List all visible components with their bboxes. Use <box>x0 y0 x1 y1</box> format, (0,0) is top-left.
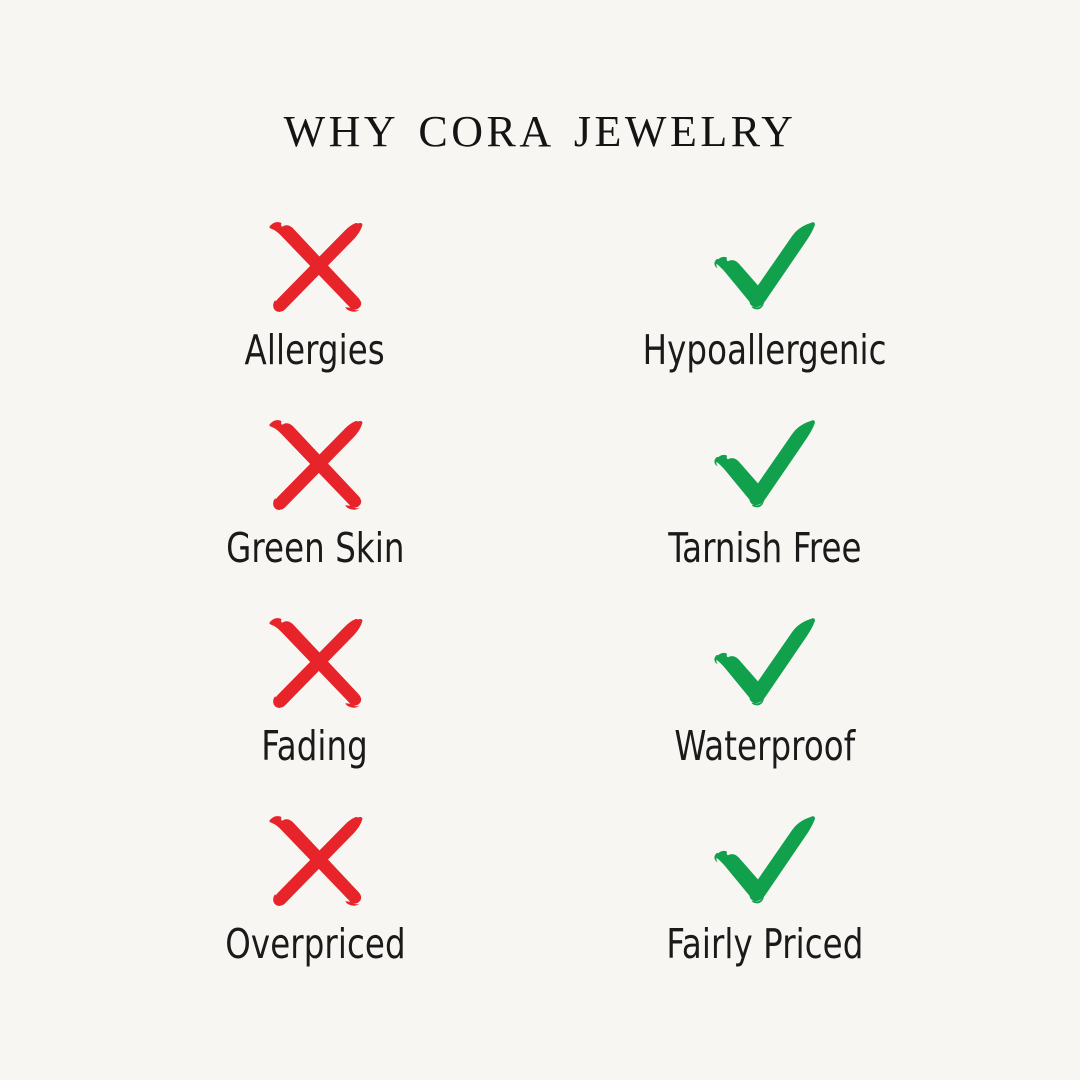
check-icon <box>709 610 821 714</box>
check-icon <box>709 412 821 516</box>
cross-icon <box>259 412 371 516</box>
comparison-cell-positive: Fairly Priced <box>540 808 990 1006</box>
comparison-cell-positive: Waterproof <box>540 610 990 808</box>
comparison-cell-negative: Allergies <box>90 214 540 412</box>
comparison-cell-negative: Overpriced <box>90 808 540 1006</box>
comparison-label: Waterproof <box>675 726 856 767</box>
comparison-cell-positive: Hypoallergenic <box>540 214 990 412</box>
comparison-grid: Allergies Hypoallergenic <box>90 214 990 1006</box>
comparison-label: Green Skin <box>226 528 404 569</box>
comparison-cell-positive: Tarnish Free <box>540 412 990 610</box>
comparison-label: Tarnish Free <box>668 528 861 569</box>
cross-icon <box>259 808 371 912</box>
comparison-label: Fairly Priced <box>666 924 863 965</box>
comparison-cell-negative: Fading <box>90 610 540 808</box>
cross-icon <box>259 610 371 714</box>
check-icon <box>709 808 821 912</box>
comparison-label: Overpriced <box>225 924 405 965</box>
cross-icon <box>259 214 371 318</box>
comparison-label: Hypoallergenic <box>643 330 887 371</box>
comparison-cell-negative: Green Skin <box>90 412 540 610</box>
comparison-label: Fading <box>262 726 369 767</box>
check-icon <box>709 214 821 318</box>
page-title: Why Cora Jewelry <box>0 92 1080 158</box>
poster-canvas: Why Cora Jewelry Allergies <box>0 0 1080 1080</box>
comparison-label: Allergies <box>245 330 385 371</box>
